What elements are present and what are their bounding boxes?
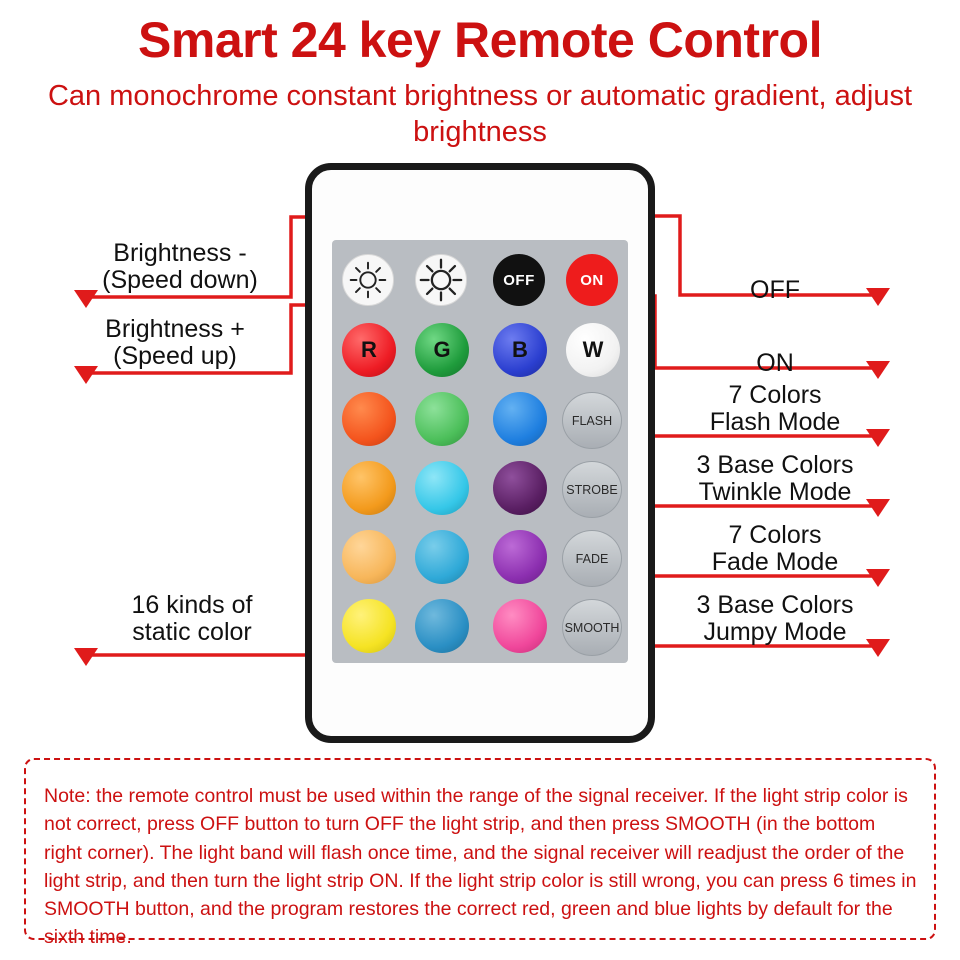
color-button-green-label: G [415, 323, 469, 377]
callout-flash-mode-line2: Flash Mode [655, 409, 895, 436]
sun-large-icon [416, 255, 466, 305]
color-button-deep-purple[interactable] [493, 461, 547, 515]
color-button-yellow[interactable] [342, 599, 396, 653]
flash-button-label: FLASH [563, 393, 621, 448]
callout-static-colors-line1: 16 kinds of [72, 592, 312, 619]
color-button-steel-blue[interactable] [415, 599, 469, 653]
off-button[interactable]: OFF [493, 254, 545, 306]
callout-off-line1: OFF [660, 277, 890, 304]
callout-brightness-minus: Brightness - (Speed down) [60, 240, 300, 294]
page-subtitle: Can monochrome constant brightness or au… [40, 78, 920, 151]
color-button-sky-blue[interactable] [415, 530, 469, 584]
color-button-green[interactable]: G [415, 323, 469, 377]
color-button-purple[interactable] [493, 530, 547, 584]
color-button-red-label: R [342, 323, 396, 377]
callout-smooth-mode-line1: 3 Base Colors [650, 592, 900, 619]
color-button-blue-label: B [493, 323, 547, 377]
callout-brightness-minus-line2: (Speed down) [60, 267, 300, 294]
brightness-down-button[interactable] [342, 254, 394, 306]
callout-flash-mode-line1: 7 Colors [655, 382, 895, 409]
callout-brightness-minus-line1: Brightness - [60, 240, 300, 267]
color-button-orange[interactable] [342, 392, 396, 446]
color-button-red[interactable]: R [342, 323, 396, 377]
sun-small-icon [343, 255, 393, 305]
flash-button[interactable]: FLASH [562, 392, 622, 449]
callout-off: OFF [660, 277, 890, 304]
color-button-amber[interactable] [342, 461, 396, 515]
fade-button-label: FADE [563, 531, 621, 586]
on-button-label: ON [566, 254, 618, 306]
callout-smooth-mode-line2: Jumpy Mode [650, 619, 900, 646]
callout-static-colors: 16 kinds of static color [72, 592, 312, 646]
note-text: Note: the remote control must be used wi… [44, 782, 918, 952]
callout-fade-mode: 7 Colors Fade Mode [655, 522, 895, 576]
color-button-blue[interactable]: B [493, 323, 547, 377]
callout-flash-mode: 7 Colors Flash Mode [655, 382, 895, 436]
callout-strobe-mode-line1: 3 Base Colors [650, 452, 900, 479]
callout-on-line1: ON [660, 350, 890, 377]
on-button[interactable]: ON [566, 254, 618, 306]
callout-brightness-plus-line1: Brightness + [50, 316, 300, 343]
callout-strobe-mode-line2: Twinkle Mode [650, 479, 900, 506]
callout-brightness-plus: Brightness + (Speed up) [50, 316, 300, 370]
callout-strobe-mode: 3 Base Colors Twinkle Mode [650, 452, 900, 506]
strobe-button[interactable]: STROBE [562, 461, 622, 518]
fade-button[interactable]: FADE [562, 530, 622, 587]
color-button-azure[interactable] [493, 392, 547, 446]
strobe-button-label: STROBE [563, 462, 621, 517]
page-title: Smart 24 key Remote Control [0, 14, 960, 67]
smooth-button-label: SMOOTH [563, 600, 621, 655]
callout-fade-mode-line2: Fade Mode [655, 549, 895, 576]
color-button-light-green[interactable] [415, 392, 469, 446]
callout-smooth-mode: 3 Base Colors Jumpy Mode [650, 592, 900, 646]
callout-static-colors-line2: static color [72, 619, 312, 646]
color-button-white-label: W [566, 323, 620, 377]
off-button-label: OFF [493, 254, 545, 306]
callout-brightness-plus-line2: (Speed up) [50, 343, 300, 370]
color-button-pink[interactable] [493, 599, 547, 653]
brightness-up-button[interactable] [415, 254, 467, 306]
callout-on: ON [660, 350, 890, 377]
color-button-light-orange[interactable] [342, 530, 396, 584]
color-button-white[interactable]: W [566, 323, 620, 377]
smooth-button[interactable]: SMOOTH [562, 599, 622, 656]
diagram-canvas: Smart 24 key Remote Control Can monochro… [0, 0, 960, 960]
callout-fade-mode-line1: 7 Colors [655, 522, 895, 549]
color-button-cyan[interactable] [415, 461, 469, 515]
